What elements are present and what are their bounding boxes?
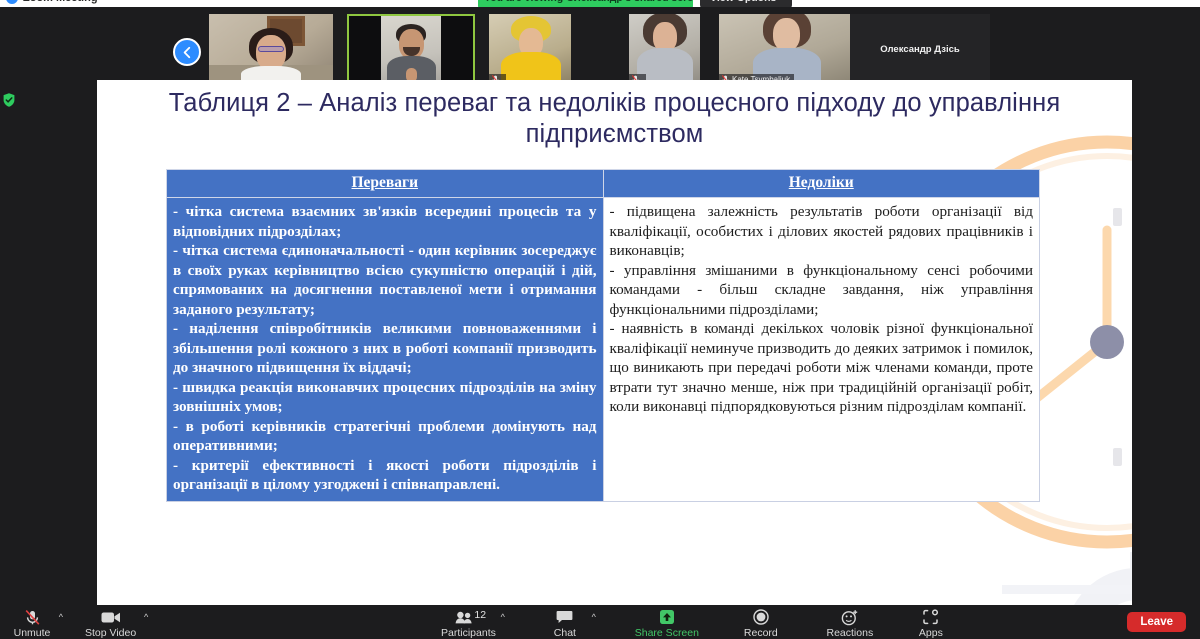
cons-item: - підвищена залежність результатів робот… <box>610 202 1034 261</box>
chevron-up-icon[interactable]: ^ <box>144 612 148 622</box>
microphone-muted-icon <box>24 609 41 625</box>
reactions-icon <box>841 609 859 625</box>
pros-item: - наділення співробітників великими повн… <box>173 319 597 378</box>
unmute-button[interactable]: Unmute ^ <box>8 607 56 639</box>
chat-button[interactable]: Chat ^ <box>541 607 589 639</box>
window-title: Zoom Meeting <box>23 0 98 4</box>
chat-label: Chat <box>554 627 576 639</box>
shield-check-icon[interactable] <box>1 92 17 108</box>
table-header-pros: Переваги <box>167 170 604 198</box>
video-camera-icon <box>101 609 121 625</box>
video-tile[interactable] <box>209 14 333 85</box>
sharing-banner-text: You are viewing Олександр's shared scree… <box>484 0 693 4</box>
leave-button[interactable]: Leave <box>1127 612 1186 632</box>
video-thumbnail-strip: Kate Tsymbaliuk Олександр Дзісь <box>0 7 1200 80</box>
participants-label: Participants <box>441 627 496 639</box>
table-cell-pros: - чітка система взаємних зв'язків всеред… <box>167 198 604 502</box>
video-tile[interactable] <box>629 14 700 85</box>
share-screen-label: Share Screen <box>635 627 699 639</box>
view-options-label: View Options <box>710 0 776 4</box>
tile-participant-name: Олександр Дзісь <box>880 44 959 55</box>
pros-item: - чітка система взаємних зв'язків всеред… <box>173 202 597 241</box>
cons-item: - управління змішаними в функціональному… <box>610 261 1034 320</box>
apps-icon <box>922 609 939 625</box>
shared-screen-slide: Таблиця 2 – Аналіз переваг та недоліків … <box>97 80 1132 605</box>
share-screen-icon <box>657 609 677 625</box>
reactions-label: Reactions <box>827 627 874 639</box>
participants-count: 12 <box>474 609 486 621</box>
pros-item: - критерії ефективності і якості роботи … <box>173 456 597 495</box>
meeting-toolbar: Unmute ^ Stop Video ^ <box>0 605 1200 639</box>
apps-button[interactable]: Apps <box>909 607 953 639</box>
page-title: Таблиця 2 – Аналіз переваг та недоліків … <box>157 88 1072 150</box>
chat-bubble-icon <box>556 609 573 625</box>
chevron-up-icon[interactable]: ^ <box>592 612 596 622</box>
pros-item: - швидка реакція виконавчих процесних пі… <box>173 378 597 417</box>
zoom-logo-icon <box>6 0 18 4</box>
participants-button[interactable]: 12 Participants ^ <box>436 607 501 639</box>
stop-video-label: Stop Video <box>85 627 136 639</box>
share-screen-button[interactable]: Share Screen <box>629 607 705 639</box>
chevron-up-icon[interactable]: ^ <box>501 612 505 622</box>
table-cell-cons: - підвищена залежність результатів робот… <box>603 198 1040 502</box>
stop-video-button[interactable]: Stop Video ^ <box>80 607 141 639</box>
zoom-meeting-window: Zoom Meeting You are viewing Олександр's… <box>0 0 1200 639</box>
unmute-label: Unmute <box>14 627 51 639</box>
record-label: Record <box>744 627 778 639</box>
video-tile[interactable] <box>489 14 571 85</box>
leave-label: Leave <box>1140 616 1173 628</box>
table-header-cons: Недоліки <box>603 170 1040 198</box>
pros-item: - чітка система єдиноначальності - один … <box>173 241 597 319</box>
reactions-button[interactable]: Reactions <box>817 607 883 639</box>
record-button[interactable]: Record <box>733 607 789 639</box>
video-tile[interactable]: Kate Tsymbaliuk <box>719 14 850 85</box>
apps-label: Apps <box>919 627 943 639</box>
record-icon <box>753 609 769 625</box>
table-row: - чітка система взаємних зв'язків всеред… <box>167 198 1040 502</box>
comparison-table: Переваги Недоліки - чітка система взаємн… <box>166 169 1040 502</box>
table-header-row: Переваги Недоліки <box>167 170 1040 198</box>
chevron-up-icon[interactable]: ^ <box>59 612 63 622</box>
chevron-left-icon[interactable] <box>173 38 201 66</box>
cons-item: - наявність в команді декількох чоловік … <box>610 319 1034 417</box>
video-tile-active-speaker[interactable] <box>347 14 475 85</box>
video-tile-no-video[interactable]: Олександр Дзісь <box>850 14 990 85</box>
pros-item: - в роботі керівників стратегічні пробле… <box>173 417 597 456</box>
